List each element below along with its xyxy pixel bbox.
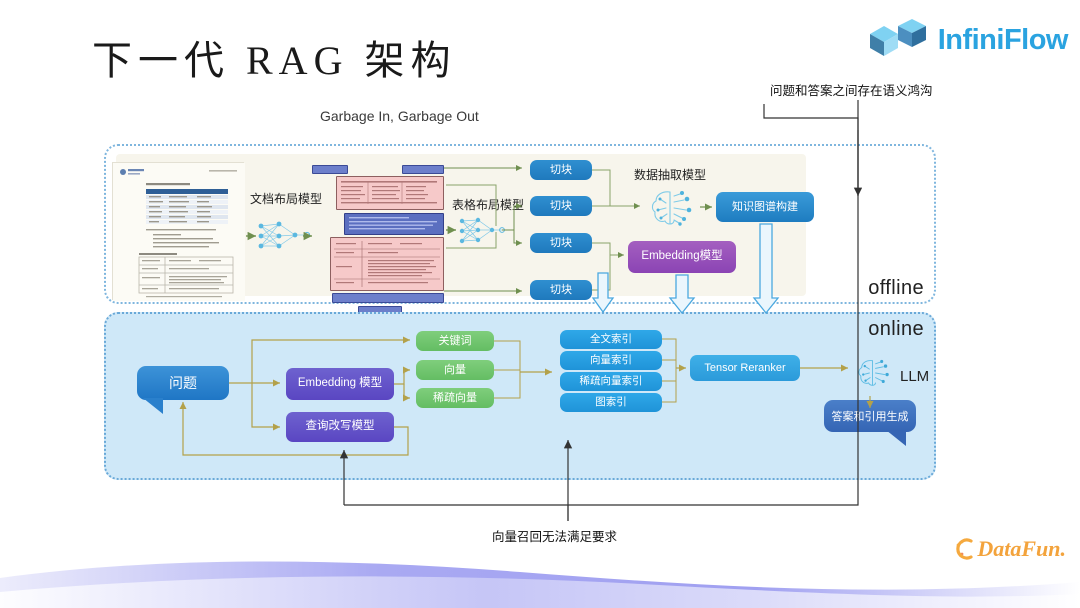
source-document-thumbnail [112, 162, 244, 300]
online-embedding-model-node[interactable]: Embedding 模型 [286, 368, 394, 400]
tensor-reranker-node[interactable]: Tensor Reranker [690, 355, 800, 381]
online-panel: online [104, 312, 936, 480]
layout-box-text-1 [344, 213, 444, 235]
layout-detected-document [312, 162, 444, 302]
query-rewrite-model-node[interactable]: 查询改写模型 [286, 412, 394, 442]
index-node-vector[interactable]: 向量索引 [560, 351, 662, 370]
signal-node-vector[interactable]: 向量 [416, 360, 494, 380]
infiniflow-logo: InfiniFlow [868, 18, 1068, 62]
offline-embedding-model-node[interactable]: Embedding模型 [628, 241, 736, 273]
annotation-top: 问题和答案之间存在语义鸿沟 [770, 80, 933, 99]
chunk-node-2[interactable]: 切块 [530, 196, 592, 216]
decorative-wave [0, 538, 1080, 608]
page-title: 下一代 RAG 架构 [92, 28, 456, 86]
ai-brain-icon-extract [646, 186, 698, 230]
layout-box-header-right [402, 165, 444, 174]
annotation-bottom: 向量召回无法满足要求 [492, 526, 617, 545]
signal-node-sparse-vector[interactable]: 稀疏向量 [416, 388, 494, 408]
question-bubble[interactable]: 问题 [137, 366, 229, 400]
index-node-sparse-vector[interactable]: 稀疏向量索引 [560, 372, 662, 391]
neural-network-icon-2 [456, 214, 508, 248]
datafun-wordmark: DataFun. [977, 536, 1066, 562]
knowledge-graph-node[interactable]: 知识图谱构建 [716, 192, 814, 222]
extract-model-label: 数据抽取模型 [634, 166, 706, 183]
signal-node-keyword[interactable]: 关键词 [416, 331, 494, 351]
llm-label: LLM [900, 368, 929, 385]
chunk-node-4[interactable]: 切块 [530, 280, 592, 300]
datafun-mark-icon [955, 537, 975, 561]
layout-box-header-left [312, 165, 348, 174]
layout-box-table-1 [336, 176, 444, 210]
table-layout-model-label: 表格布局模型 [452, 196, 524, 213]
document-preview-icon [113, 163, 245, 301]
llm-brain-icon [854, 352, 894, 394]
index-node-fulltext[interactable]: 全文索引 [560, 330, 662, 349]
page-subtitle: Garbage In, Garbage Out [320, 108, 479, 124]
index-node-graph[interactable]: 图索引 [560, 393, 662, 412]
datafun-logo: DataFun. [955, 536, 1066, 562]
layout-box-table-2 [330, 237, 444, 291]
online-tag: online [868, 318, 924, 341]
neural-network-icon-1 [255, 218, 313, 254]
infiniflow-wordmark: InfiniFlow [938, 24, 1068, 57]
answer-generation-bubble[interactable]: 答案和引用生成 [824, 400, 916, 432]
chunk-node-1[interactable]: 切块 [530, 160, 592, 180]
layout-box-footer-text [332, 293, 444, 303]
infiniflow-mark-icon [868, 18, 930, 62]
offline-tag: offline [868, 277, 924, 300]
chunk-node-3[interactable]: 切块 [530, 233, 592, 253]
